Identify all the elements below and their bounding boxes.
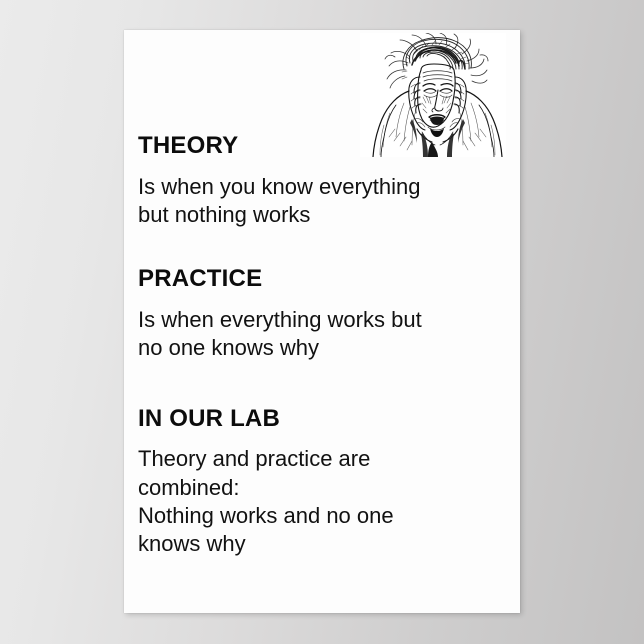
spacer bbox=[138, 431, 506, 445]
body-in-our-lab: Theory and practice are combined: Nothin… bbox=[138, 445, 506, 558]
spacer bbox=[138, 292, 506, 306]
section-theory: THEORY Is when you know everything but n… bbox=[138, 134, 506, 229]
body-line: no one knows why bbox=[138, 334, 506, 362]
body-line: but nothing works bbox=[138, 201, 506, 229]
poster-canvas: THEORY Is when you know everything but n… bbox=[0, 0, 644, 644]
body-line: Nothing works and no one bbox=[138, 502, 506, 530]
body-theory: Is when you know everything but nothing … bbox=[138, 173, 506, 229]
spacer bbox=[138, 159, 506, 173]
body-line: combined: bbox=[138, 474, 506, 502]
spacer bbox=[138, 363, 506, 407]
section-in-our-lab: IN OUR LAB Theory and practice are combi… bbox=[138, 407, 506, 559]
poster: THEORY Is when you know everything but n… bbox=[124, 30, 520, 613]
heading-in-our-lab: IN OUR LAB bbox=[138, 407, 506, 432]
section-practice: PRACTICE Is when everything works but no… bbox=[138, 267, 506, 362]
body-line: Is when you know everything bbox=[138, 173, 506, 201]
heading-theory: THEORY bbox=[138, 134, 506, 159]
spacer bbox=[138, 229, 506, 267]
heading-practice: PRACTICE bbox=[138, 267, 506, 292]
body-line: Is when everything works but bbox=[138, 306, 506, 334]
body-line: knows why bbox=[138, 530, 506, 558]
body-line: Theory and practice are bbox=[138, 445, 506, 473]
body-practice: Is when everything works but no one know… bbox=[138, 306, 506, 362]
poster-text-content: THEORY Is when you know everything but n… bbox=[138, 134, 506, 558]
